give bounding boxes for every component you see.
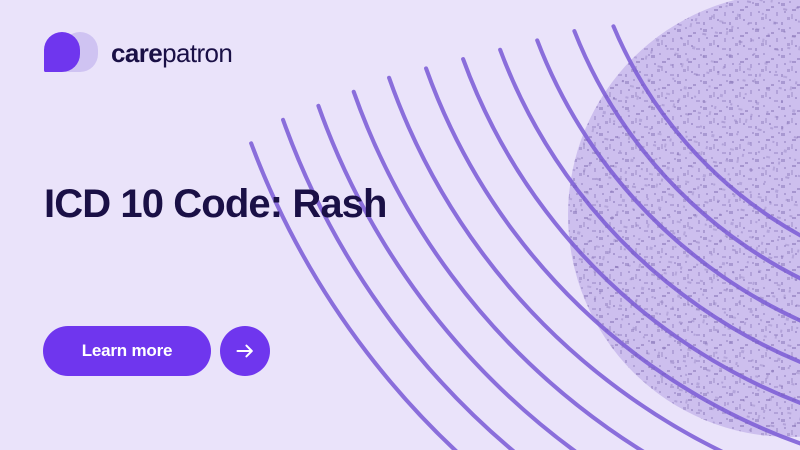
learn-more-arrow-button[interactable] [220,326,270,376]
learn-more-button[interactable]: Learn more [43,326,211,376]
leaf-front-shape [44,32,80,72]
cta-group: Learn more [43,326,270,376]
page-title: ICD 10 Code: Rash [44,181,474,227]
carepatron-banner: carepatron ICD 10 Code: Rash Learn more [0,0,800,450]
arrow-right-icon [234,340,256,362]
speckled-circle [568,0,800,437]
brand-wordmark: carepatron [111,40,232,66]
brand-wordmark-bold: care [111,38,162,68]
brand-wordmark-light: patron [162,38,232,68]
carepatron-leaf-mark-icon [44,32,98,72]
brand-logo[interactable]: carepatron [44,32,232,72]
